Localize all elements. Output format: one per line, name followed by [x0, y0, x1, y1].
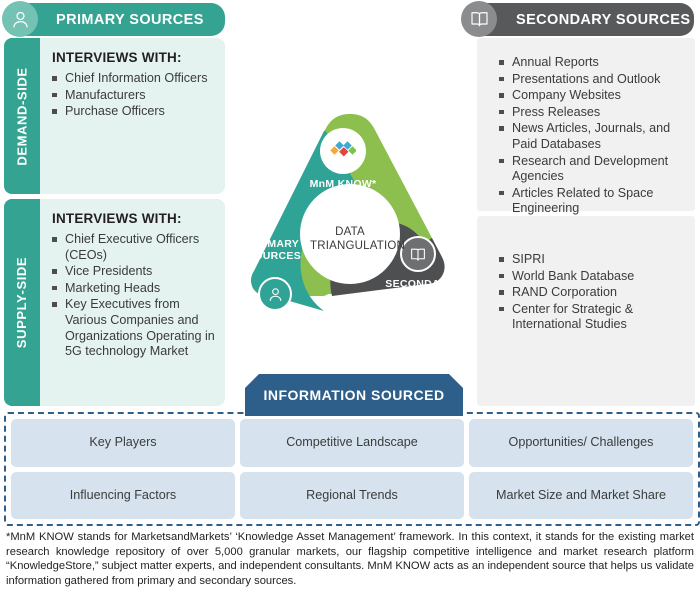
- list-item: World Bank Database: [499, 269, 681, 285]
- list-item: Purchase Officers: [52, 104, 217, 120]
- triangle-label-secondary-sources: SECONDARY SOURCES: [378, 278, 462, 302]
- secondary-sources-bottom-list: SIPRI World Bank Database RAND Corporati…: [499, 252, 681, 333]
- list-item: Presentations and Outlook: [499, 72, 681, 88]
- data-triangulation-diagram: MnM KNOW* PRIMARY SOURCES SECONDARY SOUR…: [232, 112, 468, 342]
- mnm-diamonds-icon: [320, 128, 366, 174]
- demand-side-subhead: INTERVIEWS WITH:: [52, 50, 217, 65]
- information-sourced-banner-label: INFORMATION SOURCED: [263, 387, 444, 403]
- triangle-secondary-sources-icon: [400, 236, 436, 272]
- list-item: Vice Presidents: [52, 264, 220, 280]
- infographic-canvas: PRIMARY SOURCES DEMAND-SIDE INTERVIEWS W…: [0, 0, 700, 593]
- grid-cell: Opportunities/ Challenges: [469, 419, 693, 467]
- list-item: Articles Related to Space Engineering: [499, 186, 681, 217]
- secondary-sources-header-label: SECONDARY SOURCES: [516, 12, 690, 28]
- secondary-sources-top-list: Annual Reports Presentations and Outlook…: [499, 55, 681, 217]
- list-item: News Articles, Journals, and Paid Databa…: [499, 121, 681, 152]
- book-icon: [461, 1, 497, 37]
- supply-side-list: Chief Executive Officers (CEOs) Vice Pre…: [52, 232, 220, 360]
- primary-sources-header-label: PRIMARY SOURCES: [56, 12, 204, 28]
- supply-side-subhead: INTERVIEWS WITH:: [52, 211, 220, 226]
- list-item: Marketing Heads: [52, 281, 220, 297]
- list-item: Company Websites: [499, 88, 681, 104]
- grid-cell: Key Players: [11, 419, 235, 467]
- information-sourced-grid: Key Players Competitive Landscape Opport…: [4, 412, 700, 526]
- list-item: Center for Strategic & International Stu…: [499, 302, 681, 333]
- list-item: Annual Reports: [499, 55, 681, 71]
- list-item: Manufacturers: [52, 88, 217, 104]
- grid-cell: Influencing Factors: [11, 472, 235, 520]
- triangle-label-mnm-know: MnM KNOW*: [294, 178, 392, 190]
- information-sourced-banner: INFORMATION SOURCED: [245, 374, 463, 416]
- demand-side-tab: DEMAND-SIDE: [4, 38, 40, 194]
- grid-cell: Regional Trends: [240, 472, 464, 520]
- demand-side-panel: DEMAND-SIDE INTERVIEWS WITH: Chief Infor…: [4, 38, 225, 194]
- secondary-sources-header: SECONDARY SOURCES: [478, 3, 694, 36]
- grid-cell: Competitive Landscape: [240, 419, 464, 467]
- demand-side-list: Chief Information Officers Manufacturers…: [52, 71, 217, 120]
- secondary-sources-top-panel: Annual Reports Presentations and Outlook…: [477, 38, 695, 211]
- list-item: Press Releases: [499, 105, 681, 121]
- list-item: Research and Development Agencies: [499, 154, 681, 185]
- list-item: Key Executives from Various Companies an…: [52, 297, 220, 359]
- list-item: Chief Information Officers: [52, 71, 217, 87]
- list-item: SIPRI: [499, 252, 681, 268]
- supply-side-panel: SUPPLY-SIDE INTERVIEWS WITH: Chief Execu…: [4, 199, 225, 406]
- list-item: RAND Corporation: [499, 285, 681, 301]
- primary-sources-header: PRIMARY SOURCES: [18, 3, 225, 36]
- grid-cell: Market Size and Market Share: [469, 472, 693, 520]
- person-icon: [2, 1, 38, 37]
- secondary-sources-bottom-panel: SIPRI World Bank Database RAND Corporati…: [477, 216, 695, 406]
- triangle-primary-sources-icon: [258, 277, 292, 311]
- footnote: *MnM KNOW stands for MarketsandMarkets’ …: [6, 530, 694, 588]
- triangle-label-primary-sources: PRIMARY SOURCES: [236, 238, 312, 262]
- triangle-center-label: DATA TRIANGULATION: [310, 225, 390, 253]
- supply-side-tab: SUPPLY-SIDE: [4, 199, 40, 406]
- list-item: Chief Executive Officers (CEOs): [52, 232, 220, 263]
- supply-side-tab-label: SUPPLY-SIDE: [15, 257, 30, 348]
- demand-side-tab-label: DEMAND-SIDE: [15, 67, 30, 165]
